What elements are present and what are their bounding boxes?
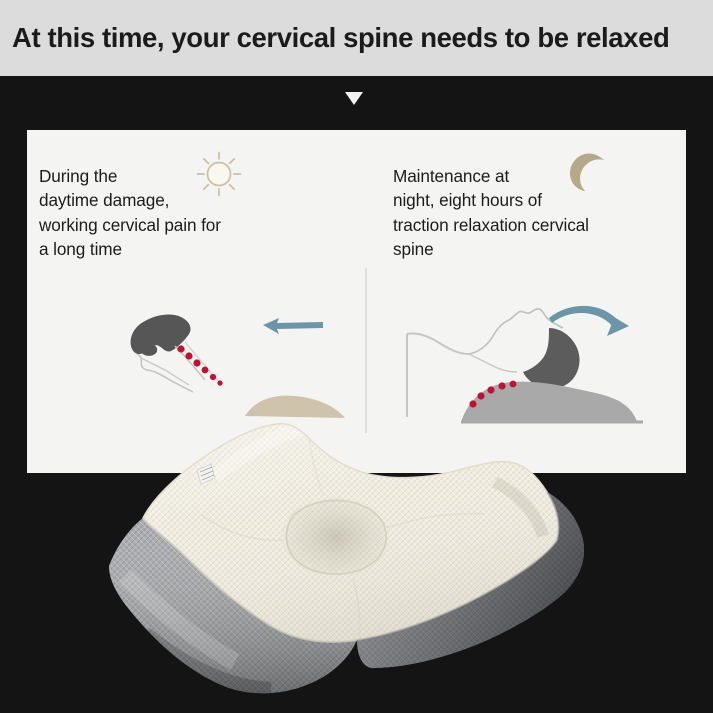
night-line-4: spine [393,237,677,261]
daytime-line-2: daytime damage, [39,188,317,212]
cervical-support-pillow [95,390,625,713]
daytime-line-3: working cervical pain for [39,213,317,237]
night-line-1: Maintenance at [393,164,677,188]
night-line-3: traction relaxation cervical [393,213,677,237]
arrow-left-icon [263,318,323,334]
moon-icon [565,148,613,196]
page-title: At this time, your cervical spine needs … [0,22,669,54]
triangle-down-icon [345,92,363,105]
night-description: Maintenance at night, eight hours of tra… [393,164,677,262]
sun-icon [193,148,245,200]
daytime-line-4: a long time [39,237,317,261]
night-line-2: night, eight hours of [393,188,677,212]
header-banner: At this time, your cervical spine needs … [0,0,713,76]
daytime-line-1: During the [39,164,317,188]
daytime-description: During the daytime damage, working cervi… [39,164,317,262]
product-promo-page: At this time, your cervical spine needs … [0,0,713,713]
